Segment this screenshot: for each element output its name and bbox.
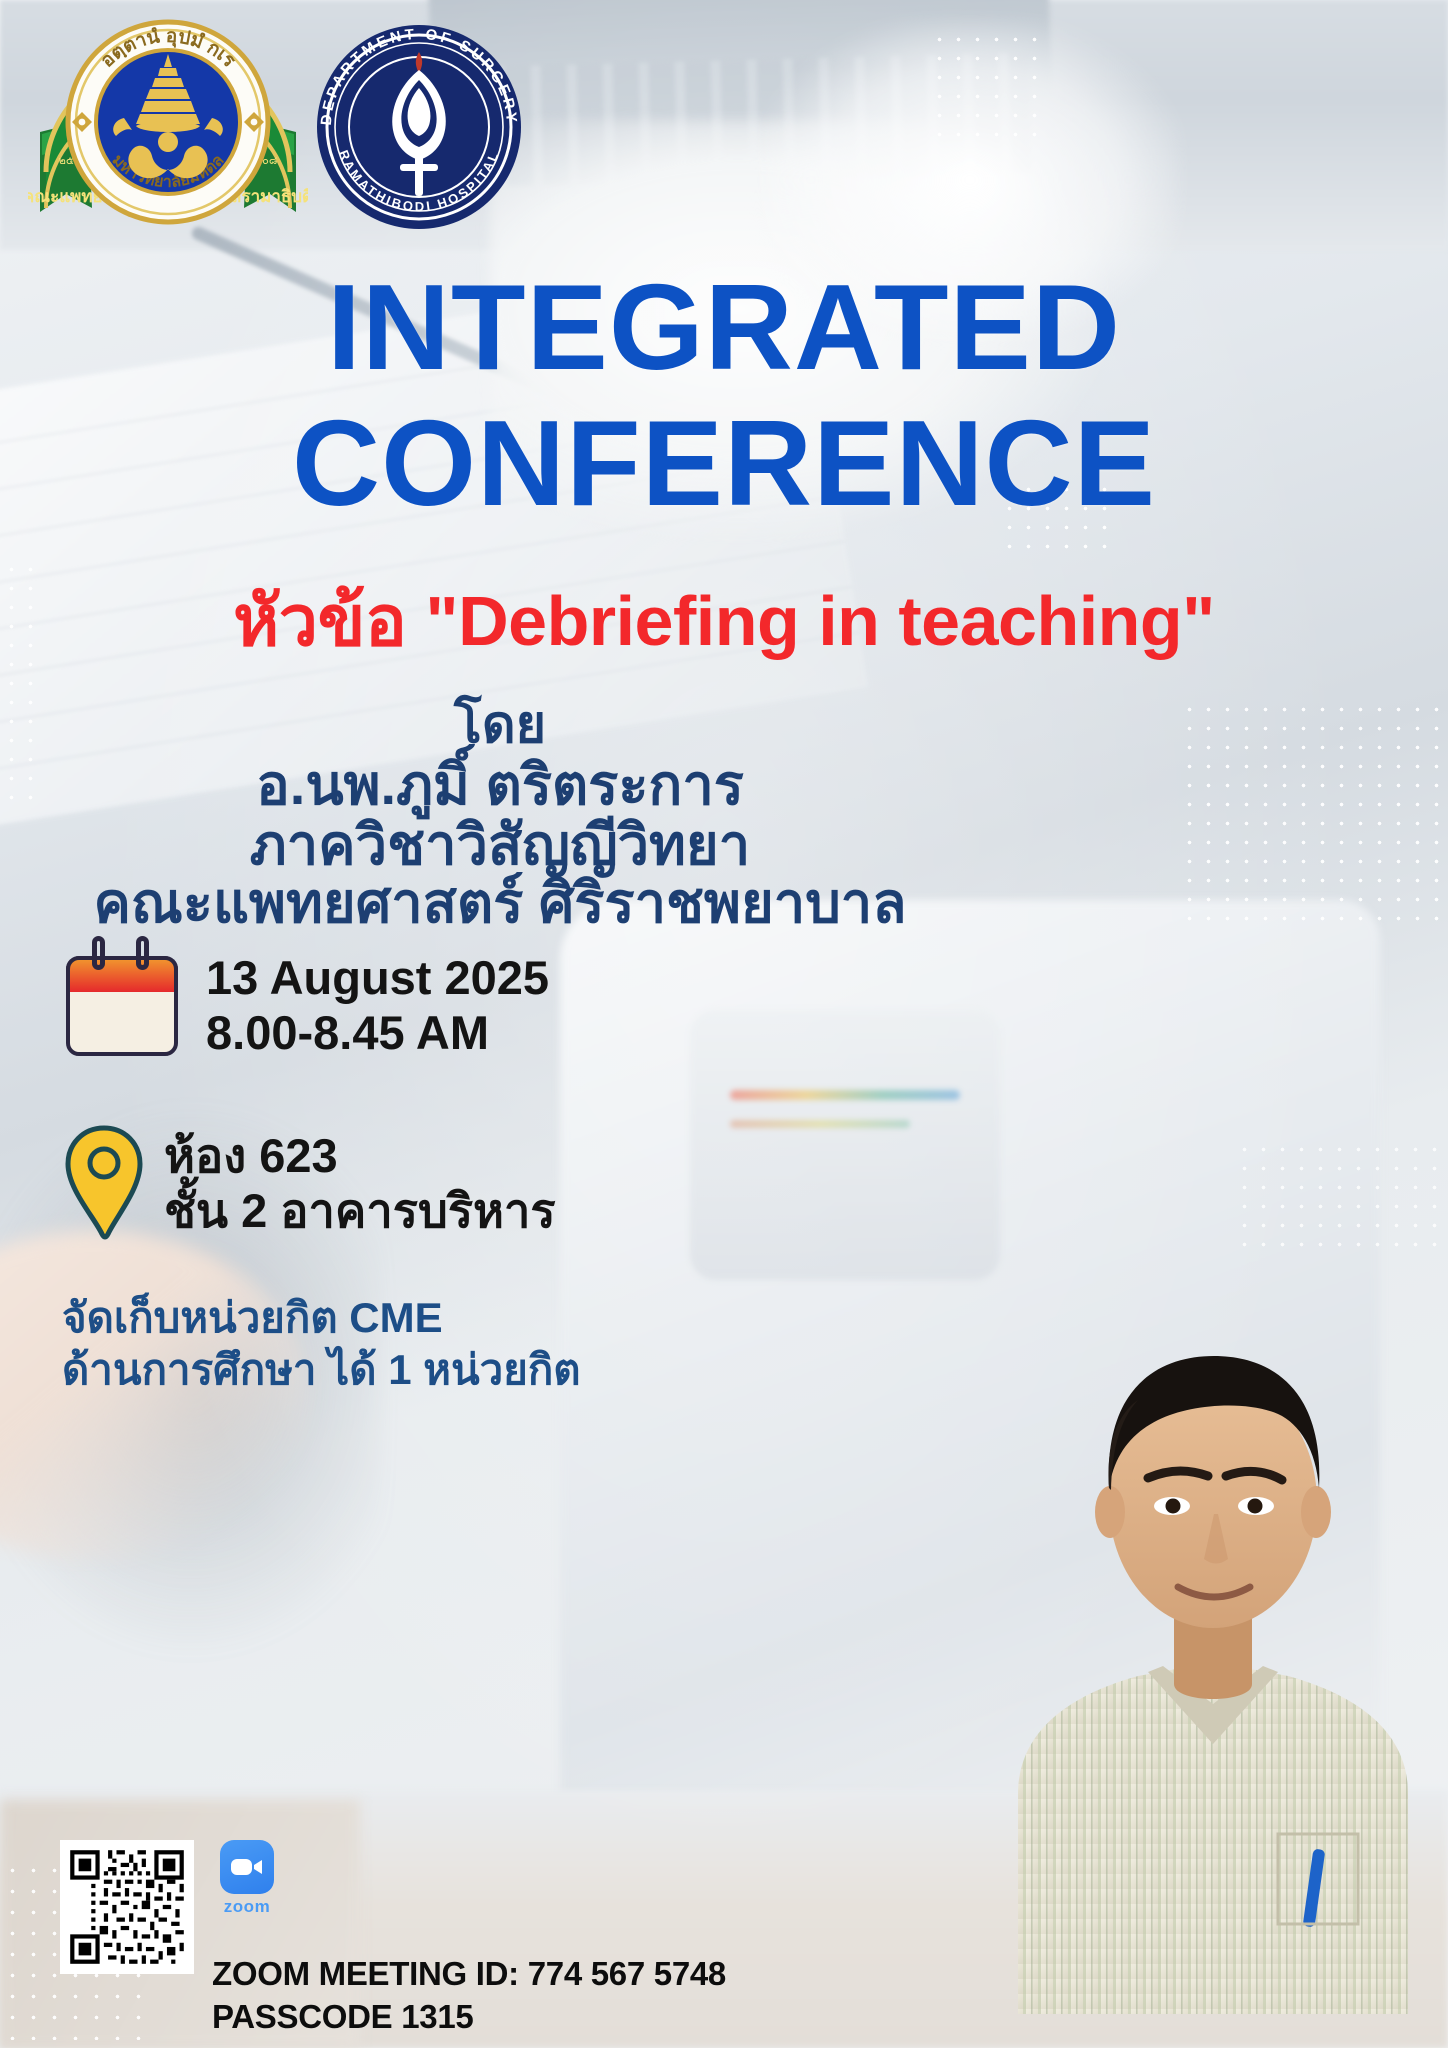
place-line-1: ห้อง 623 — [164, 1128, 556, 1183]
zoom-passcode: PASSCODE 1315 — [212, 1998, 473, 2036]
zoom-camera-icon — [220, 1840, 274, 1894]
zoom-logo: zoom — [212, 1840, 282, 1918]
speaker-photo — [978, 1274, 1448, 2014]
place-line-2: ชั้น 2 อาคารบริหาร — [164, 1183, 556, 1238]
department-of-surgery-logo: DEPARTMENT OF SURGERY RAMATHIBODI HOSPIT… — [312, 22, 526, 232]
date-row: 13 August 2025 8.00-8.45 AM — [62, 940, 549, 1061]
dot-pattern-right-middle — [1180, 700, 1448, 930]
cme-line-2: ด้านการศึกษา ได้ 1 หน่วยกิต — [62, 1337, 581, 1403]
date-line-2: 8.00-8.45 AM — [206, 1005, 549, 1060]
place-text-block: ห้อง 623 ชั้น 2 อาคารบริหาร — [164, 1128, 556, 1239]
zoom-wordmark: zoom — [212, 1897, 282, 1917]
poster-title-line-1: INTEGRATED — [0, 268, 1448, 388]
date-line-1: 13 August 2025 — [206, 950, 549, 1005]
date-text-block: 13 August 2025 8.00-8.45 AM — [206, 950, 549, 1061]
place-row: ห้อง 623 ชั้น 2 อาคารบริหาร — [62, 1122, 556, 1242]
poster-canvas: คณะแพทยศาสตร์โรงพยาบาลรามาธิบดี ๒๕๐๘ ๒๕๐… — [0, 0, 1448, 2048]
poster-subtitle: หัวข้อ "Debriefing in teaching" — [0, 565, 1448, 676]
speaker-faculty: คณะแพทยศาสตร์ ศิริราชพยาบาล — [0, 858, 1000, 947]
dot-pattern-right-lower — [1235, 1140, 1445, 1260]
map-pin-icon — [62, 1122, 146, 1242]
calendar-icon — [62, 940, 184, 1058]
dot-pattern-right-top — [930, 30, 1040, 150]
zoom-meeting-id: ZOOM MEETING ID: 774 567 5748 — [212, 1955, 726, 1993]
poster-title-line-2: CONFERENCE — [0, 404, 1448, 524]
mahidol-faculty-logo: คณะแพทยศาสตร์โรงพยาบาลรามาธิบดี ๒๕๐๘ ๒๕๐… — [28, 12, 308, 252]
qr-code[interactable] — [60, 1840, 194, 1974]
